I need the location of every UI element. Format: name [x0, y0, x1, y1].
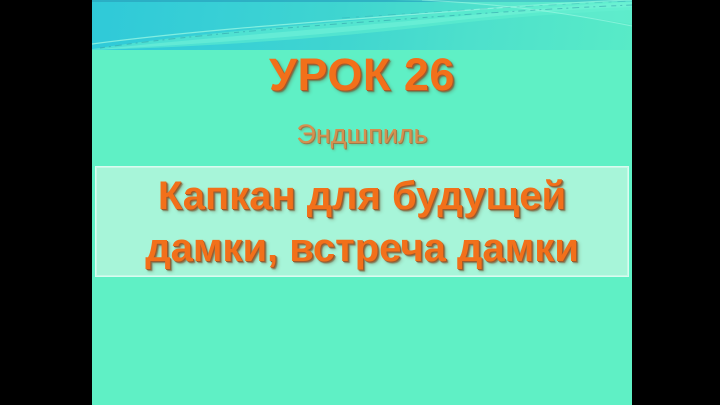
- page-title: УРОК 26: [92, 48, 632, 101]
- highlight-line-2: дамки, встреча дамки: [145, 222, 579, 274]
- letterbox-bar-right: [632, 0, 720, 405]
- highlight-text-box: Капкан для будущей дамки, встреча дамки: [95, 166, 629, 277]
- letterbox-bar-left: [0, 0, 92, 405]
- decorative-wave-banner: [92, 0, 632, 50]
- presentation-slide: УРОК 26 Эндшпиль Капкан для будущей дамк…: [92, 0, 632, 405]
- highlight-line-1: Капкан для будущей: [158, 170, 566, 222]
- video-frame: УРОК 26 Эндшпиль Капкан для будущей дамк…: [0, 0, 720, 405]
- page-subtitle: Эндшпиль: [92, 119, 632, 150]
- banner-swoosh-lines: [92, 0, 632, 50]
